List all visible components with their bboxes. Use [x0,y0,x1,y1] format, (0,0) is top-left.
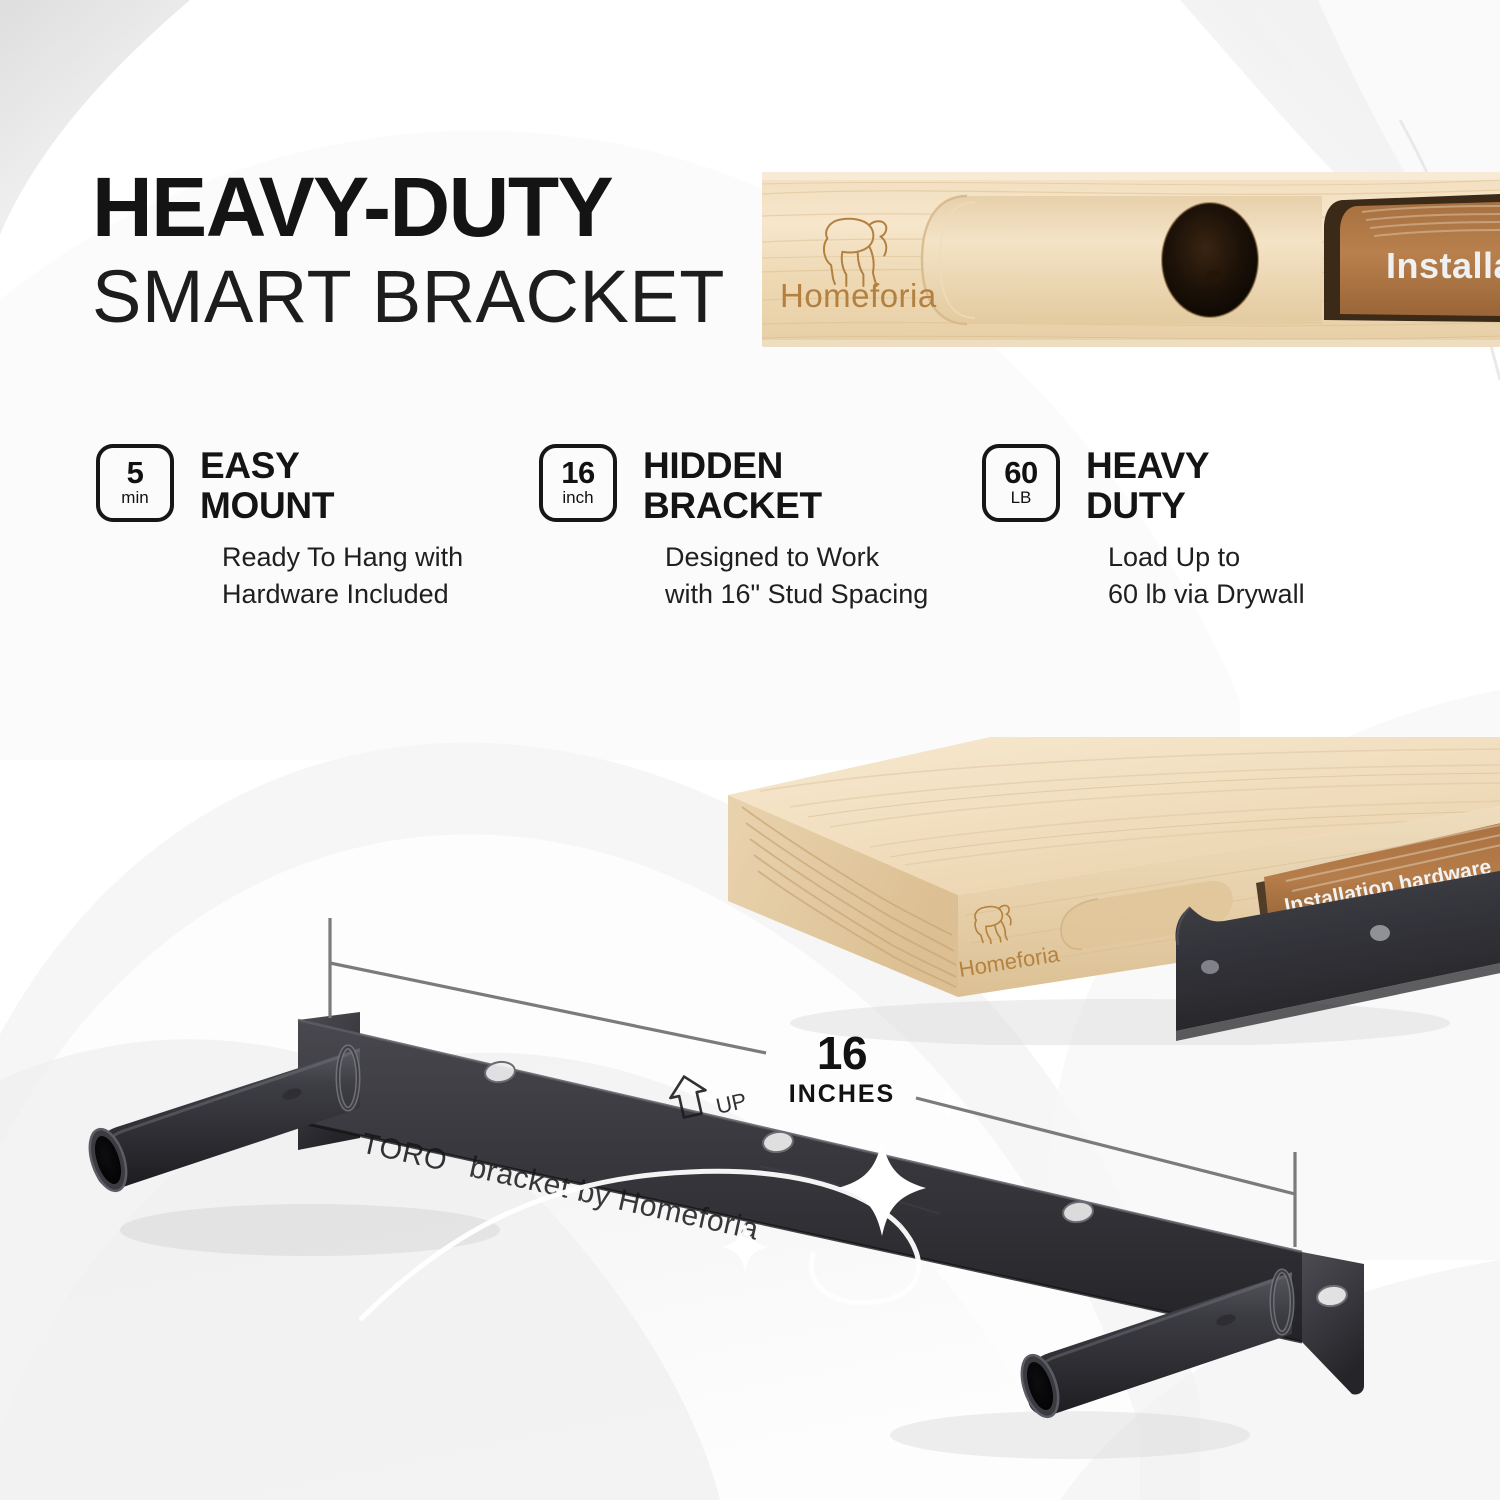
dimension-unit: INCHES [752,1082,932,1107]
badge-number: 16 [561,458,594,487]
badge-unit: LB [1011,489,1032,508]
feature-title-line-1: HEAVY [1086,446,1209,486]
badge-60-lb: 60 LB [982,444,1060,522]
feature-title-line-2: BRACKET [643,486,822,526]
badge-5-min: 5 min [96,444,174,522]
feature-title-line-1: HIDDEN [643,446,822,486]
brand-wordmark: Homeforia [780,277,937,314]
photo-shelf-closeup: Homeforia Installa [762,172,1500,347]
feature-list: 5 min EASY MOUNT Ready To Hang with Hard… [96,444,1426,614]
feature-desc-line-1: Designed to Work [665,539,982,576]
feature-title-line-1: EASY [200,446,334,486]
feature-heavy-duty: 60 LB HEAVY DUTY Load Up to 60 lb via Dr… [982,444,1425,614]
feature-desc-line-2: Hardware Included [222,576,539,613]
feature-title-line-2: MOUNT [200,486,334,526]
dimension-value: 16 [752,1030,932,1076]
page-title: HEAVY-DUTY SMART BRACKET [92,168,725,335]
feature-hidden-bracket: 16 inch HIDDEN BRACKET Designed to Work … [539,444,982,614]
sparkle-icon [932,1086,964,1120]
badge-number: 5 [127,458,144,487]
feature-easy-mount: 5 min EASY MOUNT Ready To Hang with Hard… [96,444,539,614]
feature-desc-line-2: 60 lb via Drywall [1108,576,1425,613]
bracket-rod-left [83,1047,360,1195]
feature-title-line-2: DUTY [1086,486,1209,526]
headline-line-1: HEAVY-DUTY [92,168,725,248]
bracket-right-plate [1302,1252,1364,1395]
badge-16-inch: 16 inch [539,444,617,522]
headline-line-2: SMART BRACKET [92,258,725,336]
photo-bracket-main: UP TORO bracket by Homeforia [60,990,1400,1490]
badge-number: 60 [1004,458,1037,487]
badge-unit: min [121,489,148,508]
infographic-canvas: Homeforia Installa [0,0,1500,1500]
up-label: UP [714,1088,749,1119]
badge-unit: inch [562,489,593,508]
dimension-label: 16 INCHES [752,1030,932,1107]
hardware-box: Installa [1324,194,1500,322]
svg-text:Installa: Installa [1386,245,1500,286]
feature-desc-line-1: Load Up to [1108,539,1425,576]
feature-desc-line-1: Ready To Hang with [222,539,539,576]
feature-desc-line-2: with 16" Stud Spacing [665,576,982,613]
